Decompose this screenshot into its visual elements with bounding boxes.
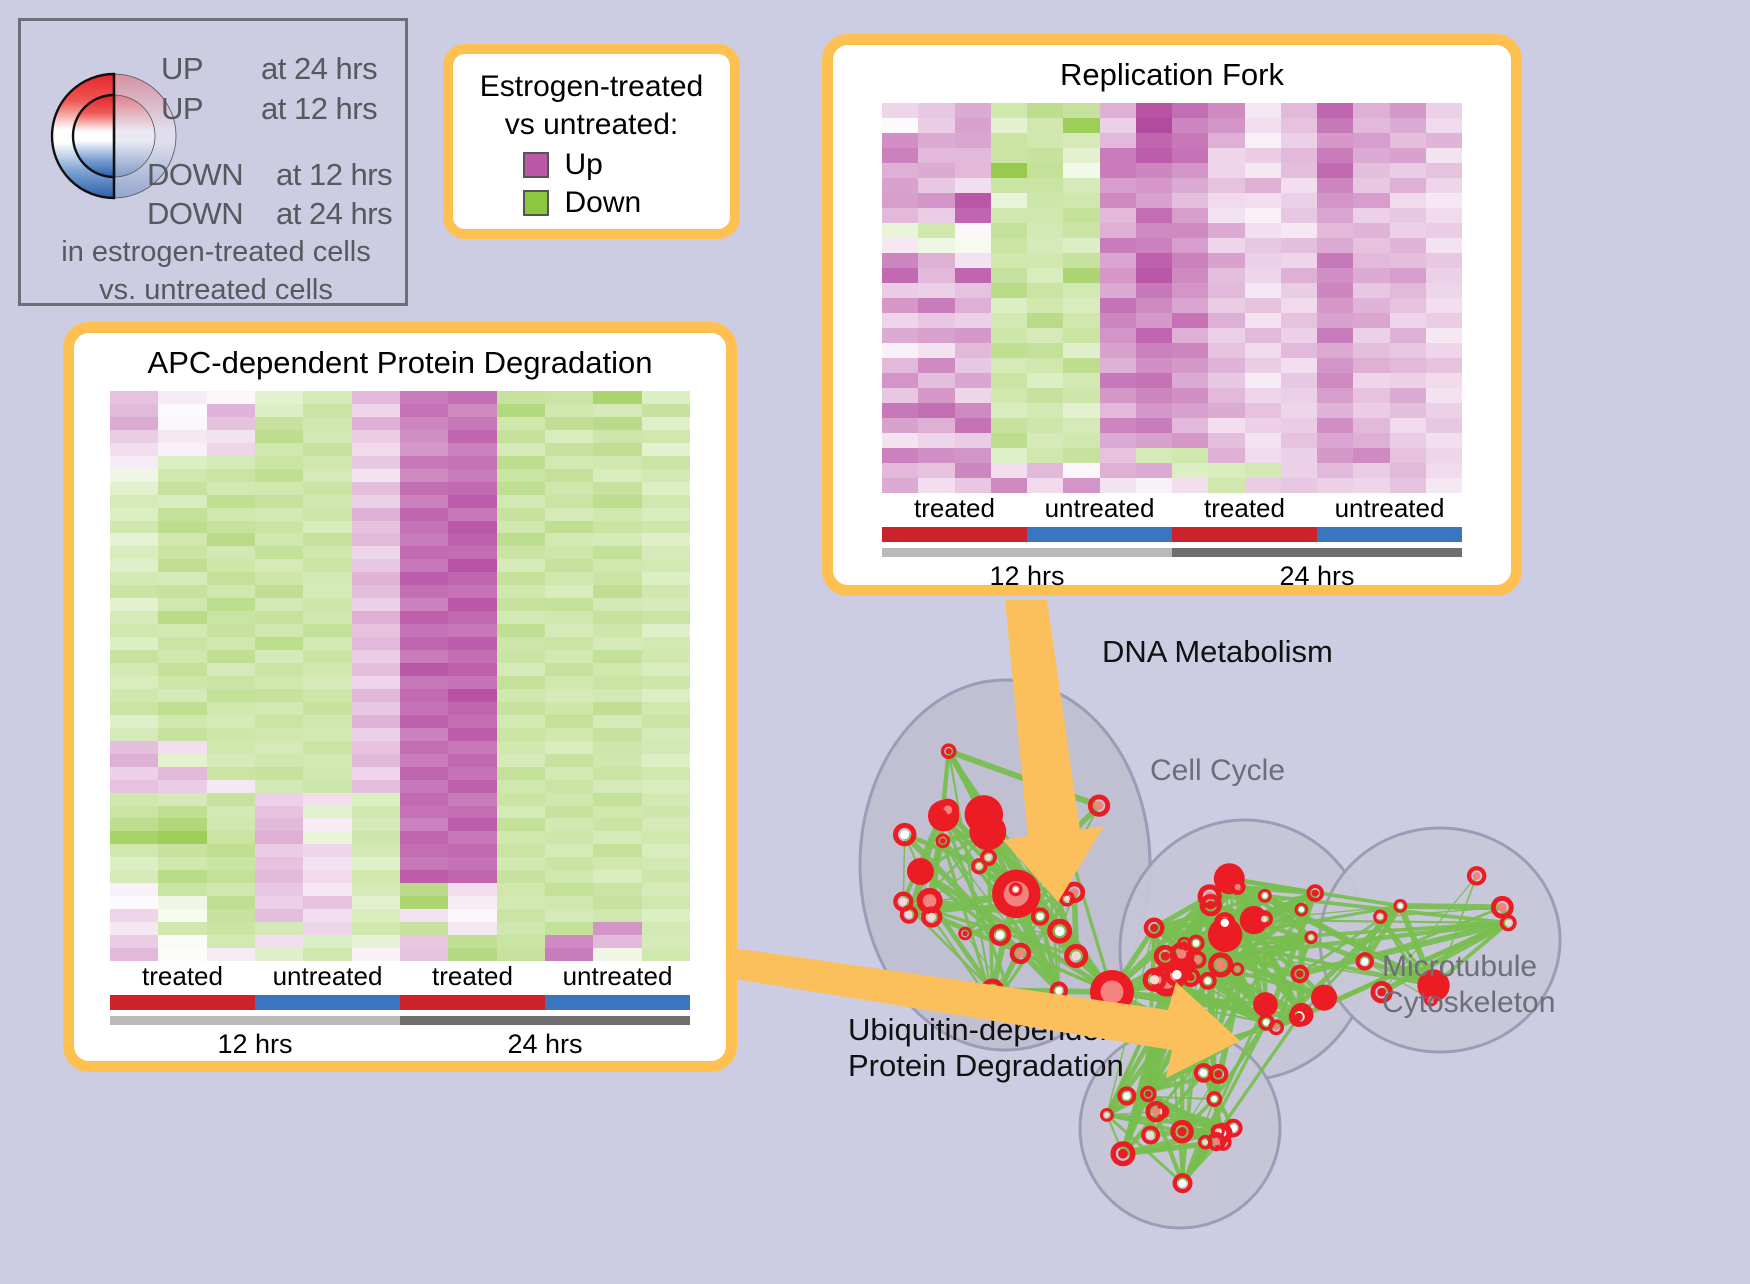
heatmap-cell xyxy=(400,391,448,404)
heatmap-cell xyxy=(303,935,351,948)
heatmap-cell xyxy=(1281,298,1317,313)
heatmap-cell xyxy=(352,443,400,456)
heatmap-cell xyxy=(303,896,351,909)
heatmap-cell xyxy=(158,793,206,806)
heatmap-cell xyxy=(255,495,303,508)
heatmap-cell xyxy=(991,463,1027,478)
heatmap-cell xyxy=(642,417,690,430)
heatmap-cell xyxy=(882,328,918,343)
network-node-core xyxy=(923,894,937,908)
heatmap-cell xyxy=(642,689,690,702)
network-node-core xyxy=(1177,949,1186,958)
heatmap-cell xyxy=(1317,448,1353,463)
heatmap-cell xyxy=(400,793,448,806)
heatmap-cell xyxy=(882,433,918,448)
heatmap-cell xyxy=(1390,193,1426,208)
heatmap-cell xyxy=(497,456,545,469)
heatmap-cell xyxy=(158,559,206,572)
heatmap-cell xyxy=(918,328,954,343)
heatmap-cell xyxy=(642,818,690,831)
heatmap-cell xyxy=(1245,148,1281,163)
heatmap-cell xyxy=(303,469,351,482)
heatmap-cell xyxy=(642,598,690,611)
heatmap-cell xyxy=(593,728,641,741)
heatmap-cell xyxy=(207,559,255,572)
heatmap-cell xyxy=(158,572,206,585)
heatmap-cell xyxy=(1208,178,1244,193)
heatmap-cell xyxy=(1100,433,1136,448)
heatmap-cell xyxy=(352,831,400,844)
heatmap-cell xyxy=(545,624,593,637)
group-label-untreated: untreated xyxy=(1027,493,1172,524)
heatmap-cell xyxy=(207,689,255,702)
heatmap-cell xyxy=(400,546,448,559)
heatmap-cell xyxy=(642,793,690,806)
heatmap-cell xyxy=(955,343,991,358)
heatmap-cell xyxy=(545,857,593,870)
heatmap-cell xyxy=(1426,193,1462,208)
heatmap-cell xyxy=(642,676,690,689)
heatmap-cell xyxy=(158,430,206,443)
heatmap-cell xyxy=(1281,418,1317,433)
heatmap-cell xyxy=(497,598,545,611)
heatmap-cell xyxy=(593,598,641,611)
heatmap-cell xyxy=(545,883,593,896)
heatmap-cell xyxy=(158,637,206,650)
group-label-untreated: untreated xyxy=(1317,493,1462,524)
network-node-core xyxy=(1179,1179,1187,1187)
heatmap-cell xyxy=(400,456,448,469)
heatmap-cell xyxy=(918,478,954,493)
network-node-core xyxy=(1172,970,1182,980)
heatmap-cell xyxy=(1317,178,1353,193)
heatmap-cell xyxy=(955,163,991,178)
network-node[interactable] xyxy=(1311,985,1337,1011)
network-node-core xyxy=(1101,981,1124,1004)
heatmap-cell xyxy=(303,922,351,935)
heatmap-cell xyxy=(1136,163,1172,178)
heatmap-cell xyxy=(448,624,496,637)
heatmap-cell xyxy=(1317,358,1353,373)
heatmap-cell xyxy=(448,391,496,404)
heatmap-cell xyxy=(642,469,690,482)
legend-row-1-direction: UP xyxy=(161,91,203,127)
heatmap-cell xyxy=(448,793,496,806)
heatmap-cell xyxy=(352,806,400,819)
heatmap-cell xyxy=(255,857,303,870)
heatmap-cell xyxy=(207,754,255,767)
heatmap-cell xyxy=(158,754,206,767)
heatmap-cell xyxy=(545,456,593,469)
heatmap-cell xyxy=(955,463,991,478)
heatmap-cell xyxy=(1172,418,1208,433)
heatmap-cell xyxy=(991,238,1027,253)
heatmap-cell xyxy=(497,754,545,767)
heatmap-cell xyxy=(352,896,400,909)
heatmap-cell xyxy=(1317,163,1353,178)
heatmap-cell xyxy=(110,650,158,663)
heatmap-cell xyxy=(1317,298,1353,313)
replication-time-bars xyxy=(882,548,1462,557)
heatmap-cell xyxy=(1317,148,1353,163)
heatmap-cell xyxy=(448,922,496,935)
heatmap-cell xyxy=(882,388,918,403)
heatmap-cell xyxy=(448,585,496,598)
heatmap-cell xyxy=(882,373,918,388)
network-label-line: Ubiquitin-dependent xyxy=(848,1012,1126,1047)
heatmap-cell xyxy=(593,948,641,961)
heatmap-cell xyxy=(497,702,545,715)
heatmap-cell xyxy=(1390,418,1426,433)
heatmap-cell xyxy=(352,482,400,495)
heatmap-cell xyxy=(158,521,206,534)
network-node-core xyxy=(1150,975,1159,984)
heatmap-cell xyxy=(497,508,545,521)
heatmap-cell xyxy=(991,283,1027,298)
network-node-core xyxy=(1299,907,1304,912)
heatmap-cell xyxy=(1208,163,1244,178)
heatmap-cell xyxy=(303,443,351,456)
heatmap-cell xyxy=(352,818,400,831)
heatmap-cell xyxy=(1245,118,1281,133)
heatmap-cell xyxy=(497,818,545,831)
heatmap-cell xyxy=(400,559,448,572)
heatmap-cell xyxy=(593,546,641,559)
heatmap-cell xyxy=(545,611,593,624)
heatmap-cell xyxy=(1100,103,1136,118)
heatmap-cell xyxy=(400,935,448,948)
heatmap-cell xyxy=(352,650,400,663)
heatmap-cell xyxy=(991,433,1027,448)
legend-row-0-direction: UP xyxy=(161,51,203,87)
heatmap-cell xyxy=(207,780,255,793)
heatmap-cell xyxy=(207,896,255,909)
heatmap-cell xyxy=(918,463,954,478)
replication-time-labels: 12 hrs24 hrs xyxy=(882,561,1462,592)
network-node-core xyxy=(1261,916,1268,923)
heatmap-cell xyxy=(593,896,641,909)
heatmap-cell xyxy=(255,469,303,482)
heatmap-cell xyxy=(303,624,351,637)
heatmap-cell xyxy=(1027,253,1063,268)
heatmap-cell xyxy=(352,508,400,521)
heatmap-cell xyxy=(1317,133,1353,148)
heatmap-cell xyxy=(955,388,991,403)
heatmap-cell xyxy=(158,585,206,598)
heatmap-cell xyxy=(448,637,496,650)
heatmap-cell xyxy=(400,948,448,961)
heatmap-cell xyxy=(593,469,641,482)
heatmap-cell xyxy=(1027,223,1063,238)
heatmap-cell xyxy=(303,404,351,417)
network-node[interactable] xyxy=(907,858,934,885)
heatmap-cell xyxy=(497,469,545,482)
heatmap-cell xyxy=(1027,148,1063,163)
heatmap-cell xyxy=(1172,343,1208,358)
heatmap-cell xyxy=(303,857,351,870)
heatmap-cell xyxy=(1281,283,1317,298)
heatmap-cell xyxy=(593,715,641,728)
heatmap-cell xyxy=(448,857,496,870)
heatmap-cell xyxy=(1390,163,1426,178)
heatmap-cell xyxy=(642,430,690,443)
heatmap-cell xyxy=(1245,253,1281,268)
heatmap-cell xyxy=(1063,418,1099,433)
heatmap-cell xyxy=(545,521,593,534)
heatmap-cell xyxy=(593,702,641,715)
heatmap-cell xyxy=(545,689,593,702)
heatmap-cell xyxy=(545,508,593,521)
heatmap-cell xyxy=(1172,478,1208,493)
heatmap-cell xyxy=(545,948,593,961)
heatmap-cell xyxy=(593,456,641,469)
group-bar-treated xyxy=(110,995,255,1010)
heatmap-cell xyxy=(158,922,206,935)
heatmap-cell xyxy=(303,818,351,831)
heatmap-cell xyxy=(1317,283,1353,298)
heatmap-cell xyxy=(545,598,593,611)
heatmap-cell xyxy=(497,546,545,559)
heatmap-cell xyxy=(448,521,496,534)
heatmap-cell xyxy=(110,508,158,521)
heatmap-cell xyxy=(882,178,918,193)
heatmap-cell xyxy=(352,922,400,935)
heatmap-cell xyxy=(1281,148,1317,163)
heatmap-cell xyxy=(955,448,991,463)
heatmap-cell xyxy=(1245,163,1281,178)
network-node-core xyxy=(1200,1069,1208,1077)
legend-footer: in estrogen-treated cells vs. untreated … xyxy=(21,233,411,309)
heatmap-cell xyxy=(1172,208,1208,223)
heatmap-cell xyxy=(1136,343,1172,358)
heatmap-cell xyxy=(955,223,991,238)
heatmap-cell xyxy=(1281,238,1317,253)
replication-fork-heatmap xyxy=(882,103,1462,493)
heatmap-cell xyxy=(303,417,351,430)
heatmap-cell xyxy=(303,870,351,883)
network-node[interactable] xyxy=(1253,992,1278,1017)
heatmap-cell xyxy=(158,598,206,611)
heatmap-cell xyxy=(1063,283,1099,298)
network-node-core xyxy=(1055,987,1062,994)
heatmap-cell xyxy=(1100,163,1136,178)
heatmap-cell xyxy=(497,948,545,961)
heatmap-cell xyxy=(400,611,448,624)
network-node-core xyxy=(1194,956,1201,963)
heatmap-cell xyxy=(255,806,303,819)
heatmap-cell xyxy=(1100,238,1136,253)
panel-replication-fork: Replication Fork treateduntreatedtreated… xyxy=(822,34,1522,596)
heatmap-cell xyxy=(882,253,918,268)
heatmap-cell xyxy=(1317,388,1353,403)
heatmap-cell xyxy=(1281,103,1317,118)
heatmap-cell xyxy=(882,313,918,328)
heatmap-cell xyxy=(255,844,303,857)
heatmap-cell xyxy=(1245,268,1281,283)
heatmap-cell xyxy=(1426,148,1462,163)
heatmap-cell xyxy=(1245,418,1281,433)
apc-group-labels: treateduntreatedtreateduntreated xyxy=(110,961,690,992)
heatmap-cell xyxy=(882,283,918,298)
network-node-core xyxy=(1216,960,1226,970)
heatmap-cell xyxy=(497,559,545,572)
heatmap-cell xyxy=(545,702,593,715)
heatmap-cell xyxy=(400,624,448,637)
heatmap-cell xyxy=(593,831,641,844)
heatmap-cell xyxy=(1208,463,1244,478)
heatmap-cell xyxy=(642,559,690,572)
heatmap-cell xyxy=(303,546,351,559)
legend-down-label: Down xyxy=(565,186,661,220)
heatmap-cell xyxy=(1353,253,1389,268)
legend-direction-key: UP at 24 hrs UP at 12 hrs DOWN at 12 hrs… xyxy=(18,18,408,306)
network-node[interactable] xyxy=(965,795,1004,834)
heatmap-cell xyxy=(1317,253,1353,268)
heatmap-cell xyxy=(158,702,206,715)
heatmap-cell xyxy=(158,870,206,883)
heatmap-cell xyxy=(1245,133,1281,148)
heatmap-cell xyxy=(1245,433,1281,448)
network-node-core xyxy=(1308,935,1313,940)
network-node-core xyxy=(1152,1107,1160,1115)
heatmap-cell xyxy=(1317,478,1353,493)
heatmap-cell xyxy=(352,456,400,469)
network-node-core xyxy=(991,1003,996,1008)
heatmap-cell xyxy=(207,844,255,857)
heatmap-cell xyxy=(400,715,448,728)
heatmap-cell xyxy=(1208,328,1244,343)
heatmap-cell xyxy=(1136,433,1172,448)
heatmap-cell xyxy=(1208,283,1244,298)
heatmap-cell xyxy=(400,482,448,495)
heatmap-cell xyxy=(352,637,400,650)
heatmap-cell xyxy=(1063,268,1099,283)
heatmap-cell xyxy=(448,715,496,728)
heatmap-cell xyxy=(448,430,496,443)
heatmap-cell xyxy=(207,857,255,870)
heatmap-cell xyxy=(1063,103,1099,118)
heatmap-cell xyxy=(1426,178,1462,193)
heatmap-cell xyxy=(497,844,545,857)
heatmap-cell xyxy=(1100,193,1136,208)
heatmap-cell xyxy=(1390,133,1426,148)
heatmap-cell xyxy=(545,922,593,935)
heatmap-cell xyxy=(158,767,206,780)
network-label-0: DNA Metabolism xyxy=(1102,634,1333,669)
heatmap-cell xyxy=(207,806,255,819)
heatmap-cell xyxy=(1353,478,1389,493)
heatmap-cell xyxy=(207,572,255,585)
heatmap-cell xyxy=(303,793,351,806)
pathway-network-diagram: DNA MetabolismCell CycleMicrotubuleCytos… xyxy=(790,620,1750,1279)
heatmap-cell xyxy=(497,650,545,663)
network-node-core xyxy=(1009,997,1016,1004)
heatmap-cell xyxy=(1208,373,1244,388)
heatmap-cell xyxy=(1281,223,1317,238)
heatmap-cell xyxy=(918,208,954,223)
heatmap-cell xyxy=(110,637,158,650)
heatmap-cell xyxy=(642,702,690,715)
heatmap-cell xyxy=(1390,118,1426,133)
heatmap-cell xyxy=(303,676,351,689)
heatmap-cell xyxy=(400,844,448,857)
network-node-core xyxy=(1221,919,1229,927)
heatmap-cell xyxy=(1390,478,1426,493)
network-label-line: Cell Cycle xyxy=(1150,754,1285,787)
heatmap-cell xyxy=(1063,193,1099,208)
heatmap-cell xyxy=(255,391,303,404)
network-node-core xyxy=(1202,1139,1208,1145)
group-bar-untreated xyxy=(545,995,690,1010)
heatmap-cell xyxy=(545,715,593,728)
heatmap-cell xyxy=(303,598,351,611)
heatmap-cell xyxy=(642,611,690,624)
apc-time-labels: 12 hrs24 hrs xyxy=(110,1029,690,1060)
heatmap-cell xyxy=(1027,178,1063,193)
heatmap-cell xyxy=(1317,463,1353,478)
heatmap-cell xyxy=(991,193,1027,208)
heatmap-cell xyxy=(1245,403,1281,418)
heatmap-cell xyxy=(207,417,255,430)
heatmap-cell xyxy=(1390,433,1426,448)
heatmap-cell xyxy=(207,495,255,508)
heatmap-cell xyxy=(448,443,496,456)
network-node-core xyxy=(1263,1019,1270,1026)
heatmap-cell xyxy=(448,948,496,961)
heatmap-cell xyxy=(255,909,303,922)
heatmap-cell xyxy=(255,611,303,624)
heatmap-cell xyxy=(1172,283,1208,298)
heatmap-cell xyxy=(1063,358,1099,373)
heatmap-cell xyxy=(448,702,496,715)
heatmap-cell xyxy=(1426,118,1462,133)
heatmap-cell xyxy=(642,857,690,870)
heatmap-cell xyxy=(110,495,158,508)
heatmap-cell xyxy=(497,896,545,909)
heatmap-cell xyxy=(497,909,545,922)
heatmap-cell xyxy=(1317,433,1353,448)
heatmap-cell xyxy=(991,178,1027,193)
heatmap-cell xyxy=(642,935,690,948)
heatmap-cell xyxy=(1426,103,1462,118)
heatmap-cell xyxy=(642,637,690,650)
heatmap-cell xyxy=(207,676,255,689)
replication-group-bars xyxy=(882,527,1462,542)
heatmap-cell xyxy=(642,780,690,793)
heatmap-cell xyxy=(497,870,545,883)
heatmap-cell xyxy=(497,430,545,443)
heatmap-cell xyxy=(110,767,158,780)
heatmap-cell xyxy=(207,430,255,443)
heatmap-cell xyxy=(1353,373,1389,388)
heatmap-cell xyxy=(1208,118,1244,133)
heatmap-cell xyxy=(955,328,991,343)
heatmap-cell xyxy=(1426,433,1462,448)
heatmap-cell xyxy=(991,418,1027,433)
heatmap-cell xyxy=(448,650,496,663)
heatmap-cell xyxy=(1353,178,1389,193)
heatmap-cell xyxy=(400,443,448,456)
heatmap-cell xyxy=(1172,388,1208,403)
heatmap-cell xyxy=(1063,208,1099,223)
heatmap-cell xyxy=(255,443,303,456)
heatmap-cell xyxy=(400,806,448,819)
heatmap-cell xyxy=(497,689,545,702)
legend-footer-line1: in estrogen-treated cells xyxy=(21,233,411,271)
heatmap-cell xyxy=(1027,373,1063,388)
heatmap-cell xyxy=(1027,268,1063,283)
network-node-core xyxy=(988,986,997,995)
